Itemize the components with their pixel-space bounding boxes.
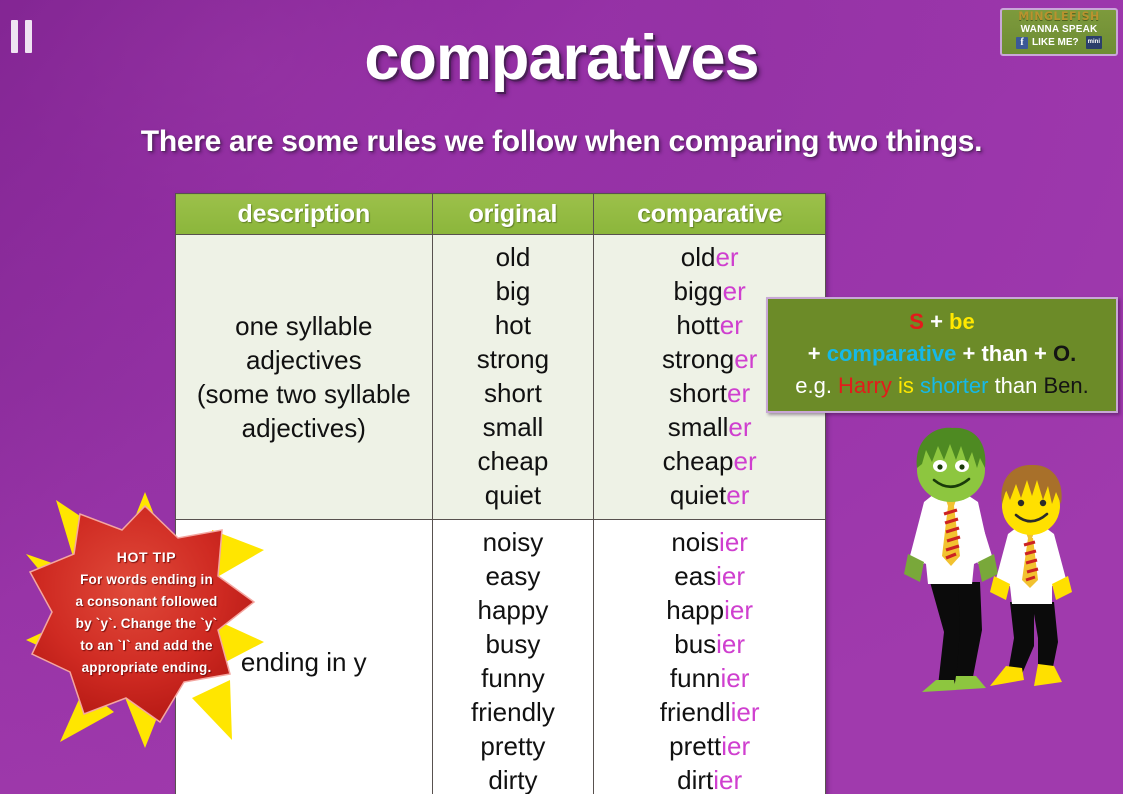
table-row: one syllableadjectives(some two syllable… [176, 235, 826, 520]
original-word: quiet [433, 478, 594, 512]
word-stem: bus [674, 629, 716, 659]
original-word: easy [433, 559, 594, 593]
original-word: small [433, 410, 594, 444]
word-suffix: ier [713, 765, 742, 794]
original-word: strong [433, 342, 594, 376]
word-suffix: er [734, 446, 757, 476]
comparative-word: happier [594, 593, 825, 627]
comparative-word: cheaper [594, 444, 825, 478]
original-word: hot [433, 308, 594, 342]
word-stem: eas [674, 561, 716, 591]
word-suffix: ier [731, 697, 760, 727]
comparative-word: friendlier [594, 695, 825, 729]
table-row: ending in y noisyeasyhappybusyfunnyfrien… [176, 520, 826, 794]
word-suffix: ier [719, 527, 748, 557]
original-word: noisy [433, 525, 594, 559]
text-line: a consonant followed [44, 591, 249, 613]
formula-token: S [909, 309, 924, 334]
comparative-word: dirtier [594, 763, 825, 794]
formula-token: Ben. [1044, 373, 1089, 398]
hot-tip-body: For words ending ina consonant followedb… [44, 569, 249, 679]
formula-token: is [898, 373, 914, 398]
word-stem: prett [669, 731, 721, 761]
logo-brand-text: MINGLEFISH [1018, 11, 1100, 24]
word-stem: hott [676, 310, 719, 340]
text-line: adjectives) [184, 411, 424, 445]
formula-token: shorter [920, 373, 988, 398]
comparative-word: prettier [594, 729, 825, 763]
original-word: funny [433, 661, 594, 695]
text-line: appropriate ending. [44, 657, 249, 679]
text-line: adjectives [184, 343, 424, 377]
original-word: friendly [433, 695, 594, 729]
original-word: cheap [433, 444, 594, 478]
comparative-word: smaller [594, 410, 825, 444]
comparative-word: noisier [594, 525, 825, 559]
comparatives-table: description original comparative one syl… [175, 193, 826, 794]
word-stem: happ [666, 595, 724, 625]
original-word: pretty [433, 729, 594, 763]
word-stem: friendl [660, 697, 731, 727]
formula-callout: S + be + comparative + than + O. e.g. Ha… [766, 297, 1118, 413]
table-header-row: description original comparative [176, 194, 826, 235]
logo-line3-row: f LIKE ME? mini [1016, 36, 1102, 49]
column-header-comparative: comparative [594, 194, 826, 235]
word-suffix: er [723, 276, 746, 306]
hot-tip-text: HOT TIP For words ending ina consonant f… [44, 546, 249, 679]
cell-description: one syllableadjectives(some two syllable… [176, 235, 433, 520]
word-stem: funn [670, 663, 721, 693]
word-suffix: ier [721, 663, 750, 693]
text-line: to an `I` and add the [44, 635, 249, 657]
word-stem: old [681, 242, 716, 272]
formula-token: + [808, 341, 827, 366]
comparative-word: funnier [594, 661, 825, 695]
formula-token: O. [1053, 341, 1076, 366]
original-word: old [433, 240, 594, 274]
word-stem: dirt [677, 765, 713, 794]
original-word: happy [433, 593, 594, 627]
word-stem: nois [671, 527, 719, 557]
word-stem: small [668, 412, 729, 442]
logo-badge: mini [1086, 36, 1102, 49]
word-suffix: ier [721, 731, 750, 761]
slide-canvas: MINGLEFISH WANNA SPEAK f LIKE ME? mini c… [0, 0, 1123, 794]
original-word: short [433, 376, 594, 410]
formula-token: e.g. [795, 373, 838, 398]
formula-token: + [1028, 341, 1053, 366]
formula-token: + [956, 341, 981, 366]
formula-token: comparative [827, 341, 957, 366]
text-line: (some two syllable [184, 377, 424, 411]
word-suffix: er [720, 310, 743, 340]
hot-tip-callout: HOT TIP For words ending ina consonant f… [26, 492, 264, 748]
original-word: busy [433, 627, 594, 661]
word-stem: strong [662, 344, 734, 374]
column-header-description: description [176, 194, 433, 235]
word-stem: quiet [670, 480, 726, 510]
two-students-svg [862, 424, 1112, 714]
word-stem: cheap [663, 446, 734, 476]
word-suffix: ier [716, 629, 745, 659]
text-line: For words ending in [44, 569, 249, 591]
facebook-icon[interactable]: f [1016, 37, 1028, 49]
comparative-word: quieter [594, 478, 825, 512]
minglefish-logo[interactable]: MINGLEFISH WANNA SPEAK f LIKE ME? mini [1000, 8, 1118, 56]
logo-line2: WANNA SPEAK [1021, 23, 1098, 36]
original-word: dirty [433, 763, 594, 794]
word-suffix: er [734, 344, 757, 374]
text-line: by `y`. Change the `y` [44, 613, 249, 635]
comparative-word: older [594, 240, 825, 274]
cell-original-words: oldbighotstrongshortsmallcheapquiet [432, 235, 594, 520]
formula-token: Harry [838, 373, 892, 398]
word-suffix: ier [716, 561, 745, 591]
formula-token: + [924, 309, 949, 334]
page-subtitle: There are some rules we follow when comp… [0, 125, 1123, 159]
pause-bar-right [25, 20, 32, 53]
pause-bar-left [11, 20, 18, 53]
word-suffix: er [726, 480, 749, 510]
cell-comparative-words: noisiereasierhappierbusierfunnierfriendl… [594, 520, 826, 794]
hot-tip-title: HOT TIP [44, 546, 249, 568]
word-suffix: ier [724, 595, 753, 625]
word-suffix: er [715, 242, 738, 272]
pause-icon[interactable] [11, 20, 32, 53]
cell-original-words: noisyeasyhappybusyfunnyfriendlyprettydir… [432, 520, 594, 794]
formula-line-1: S + be [778, 306, 1106, 338]
table-body: one syllableadjectives(some two syllable… [176, 235, 826, 794]
word-stem: short [669, 378, 727, 408]
yellow-character [990, 465, 1072, 686]
formula-token: than [981, 341, 1027, 366]
column-header-original: original [432, 194, 594, 235]
original-word: big [433, 274, 594, 308]
formula-token: be [949, 309, 975, 334]
formula-token: than [988, 373, 1043, 398]
formula-example-line: e.g. Harry is shorter than Ben. [778, 370, 1106, 402]
formula-line-2: + comparative + than + O. [778, 338, 1106, 370]
characters-illustration [862, 424, 1112, 714]
word-suffix: er [727, 378, 750, 408]
comparative-word: easier [594, 559, 825, 593]
word-stem: bigg [674, 276, 723, 306]
logo-line3: LIKE ME? [1032, 36, 1079, 49]
page-title: comparatives [0, 22, 1123, 94]
text-line: one syllable [184, 309, 424, 343]
word-suffix: er [728, 412, 751, 442]
comparative-word: busier [594, 627, 825, 661]
green-character [904, 428, 998, 692]
table-head: description original comparative [176, 194, 826, 235]
